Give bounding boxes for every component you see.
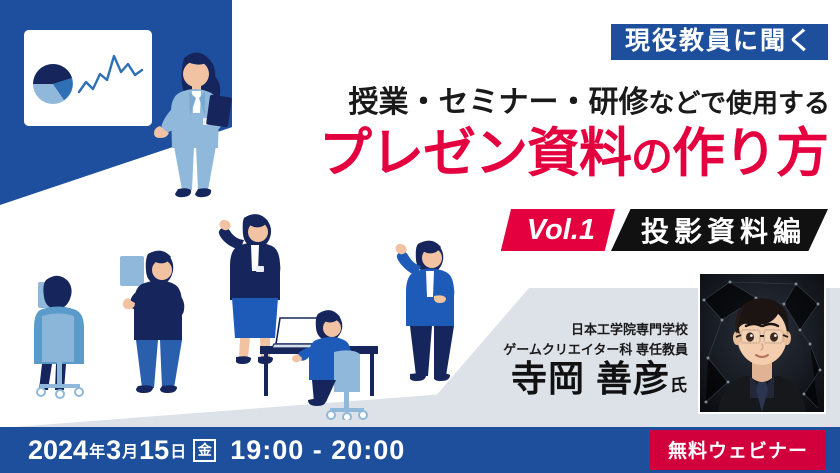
speaker-org-line1: 日本工学院専門学校 <box>503 320 688 340</box>
event-day: 15 <box>139 435 169 466</box>
title-mainline-part1: プレゼン資料 <box>319 124 631 183</box>
volume-label: Vol.1 <box>501 209 615 251</box>
title-mainline-part3: 作り方 <box>672 124 828 183</box>
event-time-range: 19:00 - 20:00 <box>230 435 405 466</box>
speaker-name: 寺岡 善彦氏 <box>511 358 688 399</box>
event-weekday-box: 金 <box>193 439 216 462</box>
title-mainline: プレゼン資料の作り方 <box>319 125 828 183</box>
figure-man-at-desk-with-laptop <box>258 300 394 420</box>
volume-strip: Vol.1 投影資料編 <box>501 209 828 251</box>
title-mainline-part2: の <box>631 133 672 180</box>
event-year: 2024 <box>28 435 88 466</box>
speaker-name-suffix: 氏 <box>670 376 688 395</box>
speaker-portrait <box>698 272 826 414</box>
event-day-unit: 日 <box>170 438 186 462</box>
kicker-badge: 現役教員に聞く <box>611 24 828 60</box>
event-year-unit: 年 <box>89 438 105 462</box>
event-datetime: 2024年3月15日 金 19:00 - 20:00 <box>28 435 405 466</box>
title-subline-part2: などで使用する <box>649 88 830 118</box>
speaker-organisation: 日本工学院専門学校 ゲームクリエイター科 専任教員 <box>503 320 688 360</box>
footer-bar: 2024年3月15日 金 19:00 - 20:00 無料ウェビナー <box>0 427 840 473</box>
whiteboard-with-charts <box>24 30 152 126</box>
figure-man-standing-pointing <box>392 238 464 398</box>
speaker-avatar-svg <box>700 274 824 412</box>
figure-woman-presenting <box>148 42 232 214</box>
event-month: 3 <box>106 435 121 466</box>
pie-chart <box>33 64 73 104</box>
speaker-name-text: 寺岡 善彦 <box>511 358 670 399</box>
title-subline-part1: 授業・セミナー・研修 <box>349 86 649 119</box>
whiteboard-svg <box>24 30 152 126</box>
event-month-unit: 月 <box>122 438 138 462</box>
figure-person-seated-on-chair <box>18 272 100 400</box>
volume-edition: 投影資料編 <box>611 209 828 251</box>
title-subline: 授業・セミナー・研修などで使用する <box>349 86 830 119</box>
free-webinar-badge: 無料ウェビナー <box>650 430 826 470</box>
webinar-banner: 現役教員に聞く 授業・セミナー・研修などで使用する プレゼン資料の作り方 Vol… <box>0 0 840 473</box>
figure-man-holding-tablet <box>118 248 190 400</box>
